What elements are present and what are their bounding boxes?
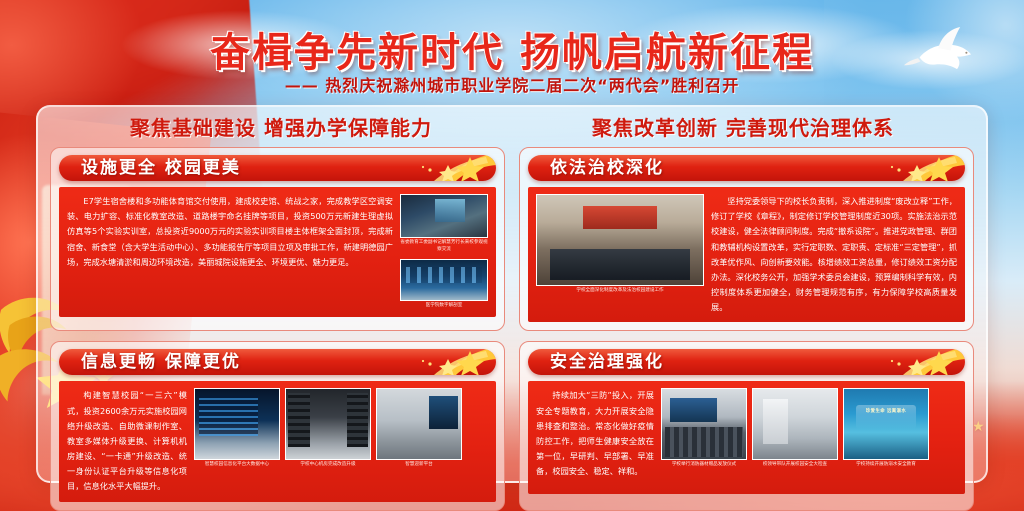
photo-figure[interactable]: 智慧校园信息化平台大数据中心 xyxy=(194,388,280,469)
photo-caption: 智慧校园信息化平台大数据中心 xyxy=(205,462,269,469)
card-photos: 智慧校园信息化平台大数据中心 学校中心机房完成改造升级 智慧迎新平台 xyxy=(194,388,462,494)
card-body: 持续加大“三防”投入，开展安全专题教育，大力开展安全隐患排查和整治。常态化做好疫… xyxy=(528,381,965,494)
photo-image xyxy=(400,194,488,238)
column-heading-right: 聚焦改革创新 完善现代治理体系 xyxy=(512,111,974,145)
sub-title: —— 热烈庆祝滁州城市职业学院二届二次“两代会”胜利召开 xyxy=(0,72,1024,96)
cards-grid: 设施更全 校园更美 E7学生宿舍楼和多功能体育馆交付使用，建成校史馆、统战之家，… xyxy=(50,147,974,511)
photo-image xyxy=(752,388,838,460)
card-title: 安全治理强化 xyxy=(550,349,664,375)
card-facilities[interactable]: 设施更全 校园更美 E7学生宿舍楼和多功能体育馆交付使用，建成校史馆、统战之家，… xyxy=(50,147,505,331)
photo-image xyxy=(194,388,280,460)
photo-figure[interactable]: 学校全面深化制度改革及法治校园建设工作 xyxy=(536,194,704,295)
card-header: 信息更畅 保障更优 xyxy=(59,349,496,375)
photo-image xyxy=(376,388,462,460)
photo-figure[interactable]: 医学院数字解剖室 xyxy=(400,259,488,310)
poster-overlay-text: 珍爱生命 远离溺水 xyxy=(844,408,928,414)
star-swoosh-icon xyxy=(855,155,965,181)
card-title: 设施更全 校园更美 xyxy=(81,155,241,181)
photo-figure[interactable]: 学校中心机房完成改造升级 xyxy=(285,388,371,469)
poster-canvas: ★ ★ ★ 奋楫争先新时代 扬帆启航新征程 —— 热烈庆祝滁州城市职业学院二届二… xyxy=(0,0,1024,511)
card-text: 持续加大“三防”投入，开展安全专题教育，大力开展安全隐患排查和整治。常态化做好疫… xyxy=(536,388,654,487)
column-heading-left: 聚焦基础建设 增强办学保障能力 xyxy=(50,111,512,145)
card-body: E7学生宿舍楼和多功能体育馆交付使用，建成校史馆、统战之家，完成教学区空调安装、… xyxy=(59,187,496,317)
photo-caption: 省委教育工委副书记解慧芳行长来校参观视察交流 xyxy=(400,240,488,254)
star-swoosh-icon xyxy=(386,349,496,375)
card-header: 安全治理强化 xyxy=(528,349,965,375)
star-swoosh-icon xyxy=(386,155,496,181)
content-board: 聚焦基础建设 增强办学保障能力 聚焦改革创新 完善现代治理体系 设施更全 校园更… xyxy=(36,105,988,483)
photo-figure[interactable]: 珍爱生命 远离溺水 学校持续开展防溺水安全教育 xyxy=(843,388,929,469)
star-swoosh-icon xyxy=(855,349,965,375)
card-photos: 省委教育工委副书记解慧芳行长来校参观视察交流 医学院数字解剖室 xyxy=(400,194,488,310)
card-safety[interactable]: 安全治理强化 持续加大“三防”投入，开展安全专题教育，大力开展安全隐患排查和整治… xyxy=(519,341,974,510)
card-title: 依法治校深化 xyxy=(550,155,664,181)
card-photos: 学校全面深化制度改革及法治校园建设工作 xyxy=(536,194,704,315)
photo-image xyxy=(285,388,371,460)
card-photos: 学校举行消防器材赠品发放仪式 校领导带队开展校园安全大检查 珍爱生命 远离溺水 … xyxy=(661,388,929,487)
card-body: 坚持党委领导下的校长负责制，深入推进制度“废改立释”工作，修订了学校《章程》，制… xyxy=(528,187,965,322)
card-header: 设施更全 校园更美 xyxy=(59,155,496,181)
card-header: 依法治校深化 xyxy=(528,155,965,181)
column-headings: 聚焦基础建设 增强办学保障能力 聚焦改革创新 完善现代治理体系 xyxy=(50,111,974,145)
photo-caption: 学校举行消防器材赠品发放仪式 xyxy=(672,462,736,469)
photo-figure[interactable]: 省委教育工委副书记解慧芳行长来校参观视察交流 xyxy=(400,194,488,254)
photo-image xyxy=(536,194,704,286)
photo-caption: 校领导带队开展校园安全大检查 xyxy=(763,462,827,469)
photo-image: 珍爱生命 远离溺水 xyxy=(843,388,929,460)
card-body: 构建智慧校园“一三六”模式，投资2600余万元实施校园网络升级改造、自助微课制作… xyxy=(59,381,496,501)
card-rule-of-law[interactable]: 依法治校深化 坚持党委领导下的校长负责制，深入推进制度“废改立释”工作，修订了学… xyxy=(519,147,974,331)
photo-image xyxy=(400,259,488,301)
photo-caption: 学校持续开展防溺水安全教育 xyxy=(856,462,916,469)
photo-figure[interactable]: 校领导带队开展校园安全大检查 xyxy=(752,388,838,469)
card-title: 信息更畅 保障更优 xyxy=(81,349,241,375)
photo-figure[interactable]: 学校举行消防器材赠品发放仪式 xyxy=(661,388,747,469)
card-text: 坚持党委领导下的校长负责制，深入推进制度“废改立释”工作，修订了学校《章程》，制… xyxy=(711,194,957,315)
photo-caption: 智慧迎新平台 xyxy=(405,462,433,469)
main-title: 奋楫争先新时代 扬帆启航新征程 xyxy=(0,20,1024,78)
photo-caption: 医学院数字解剖室 xyxy=(426,303,463,310)
card-text: E7学生宿舍楼和多功能体育馆交付使用，建成校史馆、统战之家，完成教学区空调安装、… xyxy=(67,194,393,310)
photo-figure[interactable]: 智慧迎新平台 xyxy=(376,388,462,469)
photo-image xyxy=(661,388,747,460)
photo-caption: 学校全面深化制度改革及法治校园建设工作 xyxy=(576,288,663,295)
photo-caption: 学校中心机房完成改造升级 xyxy=(300,462,355,469)
card-text: 构建智慧校园“一三六”模式，投资2600余万元实施校园网络升级改造、自助微课制作… xyxy=(67,388,187,494)
card-informatization[interactable]: 信息更畅 保障更优 构建智慧校园“一三六”模式，投资2600余万元实施校园网络升… xyxy=(50,341,505,510)
poster-header: 奋楫争先新时代 扬帆启航新征程 —— 热烈庆祝滁州城市职业学院二届二次“两代会”… xyxy=(0,0,1024,100)
